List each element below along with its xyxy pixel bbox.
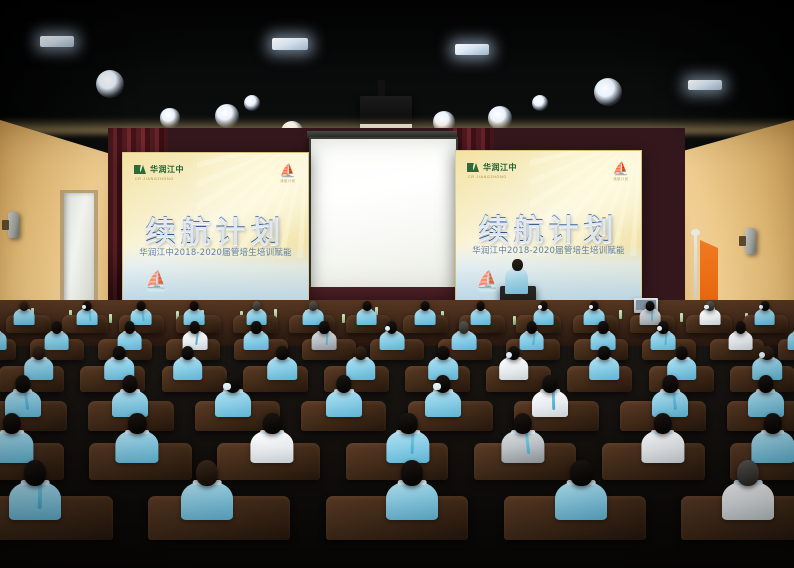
audience-head xyxy=(735,321,746,333)
audience-head xyxy=(51,321,62,333)
banner-right-logo-en: CR JIANGZHONG xyxy=(468,175,507,179)
audience-shirt xyxy=(532,390,568,417)
audience-shirt xyxy=(215,390,251,417)
audience-shirt xyxy=(112,390,148,417)
audience-shirt xyxy=(44,331,69,350)
audience-shirt xyxy=(754,309,775,325)
audience-head xyxy=(15,375,30,393)
audience-head xyxy=(570,460,592,486)
ship-icon: ⛵ xyxy=(476,271,498,289)
banner-left-logo-cn: 华润江中 xyxy=(150,166,184,174)
audience-shirt xyxy=(555,481,607,520)
audience-shirt xyxy=(641,430,684,462)
audience-head xyxy=(514,413,532,435)
audience-shirt xyxy=(24,357,54,379)
sail-icon: ⛵ xyxy=(613,162,629,175)
banner-right-logo-cn: 华润江中 xyxy=(483,164,517,172)
audience-shirt xyxy=(387,430,430,462)
lanyard xyxy=(88,310,91,321)
audience-head xyxy=(20,301,29,311)
audience-shirt xyxy=(470,309,491,325)
audience-shirt xyxy=(173,357,203,379)
audience-head xyxy=(336,375,351,393)
audience-shirt xyxy=(751,430,794,462)
audience-head xyxy=(252,301,261,311)
audience-head xyxy=(598,321,609,333)
banner-left: ⛵ 华润江中 CR JIANGZHONG ⛵ 续航计划 续航计划 华润江中201… xyxy=(122,152,309,304)
water-bottle xyxy=(109,314,112,323)
audience-shirt xyxy=(519,331,544,350)
audience-shirt xyxy=(386,481,438,520)
audience-head xyxy=(128,413,146,435)
wall-speaker-left-icon xyxy=(8,212,19,238)
panel-light-2 xyxy=(272,38,308,50)
audience-head xyxy=(476,301,485,311)
face-mask xyxy=(506,352,512,358)
audience-head xyxy=(196,460,218,486)
wall-speaker-right-icon xyxy=(745,228,756,254)
banner-right-logo: 华润江中 xyxy=(467,163,517,172)
audience-shirt xyxy=(267,357,297,379)
panel-light-1 xyxy=(40,36,74,47)
audience-head xyxy=(3,413,21,435)
audience-head xyxy=(763,413,781,435)
audience-shirt xyxy=(244,331,269,350)
audience-head xyxy=(459,321,470,333)
banner-left-title: 续航计划 xyxy=(123,207,308,251)
cr-logo-mark-icon xyxy=(467,163,480,172)
cr-logo-mark-icon xyxy=(134,165,147,174)
audience-head xyxy=(113,346,126,361)
audience-head xyxy=(646,301,655,311)
lanyard xyxy=(325,332,328,345)
face-mask xyxy=(433,383,440,391)
banner-left-logo-en: CR JIANGZHONG xyxy=(135,177,174,181)
audience-shirt xyxy=(748,390,784,417)
audience-shirt xyxy=(181,481,233,520)
audience-shirt xyxy=(77,309,98,325)
panel-light-4 xyxy=(688,80,722,90)
audience-shirt xyxy=(346,357,376,379)
audience-head xyxy=(181,346,194,361)
banner-left-logo: 华润江中 xyxy=(134,165,184,174)
audience-head xyxy=(24,460,46,486)
projection-screen xyxy=(311,139,456,289)
audience-shirt xyxy=(0,430,33,462)
banner-right-subtitle: 华润江中2018-2020届管培生培训赋能 xyxy=(456,244,641,256)
audience-shirt xyxy=(116,430,159,462)
audience-shirt xyxy=(14,309,35,325)
audience-head xyxy=(542,375,557,393)
audience-head xyxy=(308,301,317,311)
audience-head xyxy=(675,346,688,361)
banner-left-sail-caption: 续航计划 xyxy=(280,178,296,183)
audience-head xyxy=(526,321,537,333)
audience-head xyxy=(319,321,330,333)
banner-right: ⛵ 华润江中 CR JIANGZHONG ⛵ 续航计划 续航计划 华润江中201… xyxy=(455,150,642,302)
banner-left-subtitle: 华润江中2018-2020届管培生培训赋能 xyxy=(123,246,308,258)
audience-head xyxy=(137,301,146,311)
audience-shirt xyxy=(379,331,404,350)
face-mask xyxy=(223,383,230,391)
flag-finial xyxy=(691,229,700,236)
audience-head xyxy=(653,413,671,435)
audience-head xyxy=(758,375,773,393)
audience-head xyxy=(251,321,262,333)
presenter-head xyxy=(512,259,523,271)
audience-shirt xyxy=(414,309,435,325)
water-bottle xyxy=(619,310,622,319)
audience-head xyxy=(124,321,135,333)
water-bottle xyxy=(342,314,345,323)
audience-shirt xyxy=(533,309,554,325)
audience-head xyxy=(189,301,198,311)
audience-shirt xyxy=(722,481,774,520)
audience-shirt xyxy=(699,309,720,325)
audience-shirt xyxy=(501,430,544,462)
audience-head xyxy=(33,346,46,361)
lanyard xyxy=(552,391,555,410)
audience-head xyxy=(437,346,450,361)
sail-icon: ⛵ xyxy=(280,164,296,177)
audience-shirt xyxy=(499,357,529,379)
audience-head xyxy=(263,413,281,435)
audience-shirt xyxy=(651,331,676,350)
audience-head xyxy=(189,321,200,333)
panel-light-3 xyxy=(455,44,489,55)
audience-head xyxy=(354,346,367,361)
audience-shirt xyxy=(425,390,461,417)
audience-shirt xyxy=(312,331,337,350)
banner-left-sail-emblem: ⛵ 续航计划 xyxy=(280,164,296,183)
audience-head xyxy=(362,301,371,311)
audience-shirt xyxy=(788,331,794,350)
audience-shirt xyxy=(728,331,753,350)
audience-shirt xyxy=(251,430,294,462)
water-bottle xyxy=(680,313,683,322)
audience-shirt xyxy=(589,357,619,379)
presenter-body xyxy=(505,268,528,294)
banner-right-sail-emblem: ⛵ 续航计划 xyxy=(613,162,629,181)
audience-head xyxy=(276,346,289,361)
auditorium-photo: ⛵ 华润江中 CR JIANGZHONG ⛵ 续航计划 续航计划 华润江中201… xyxy=(0,0,794,568)
audience-head xyxy=(401,460,423,486)
face-mask xyxy=(704,305,708,309)
banner-right-sail-caption: 续航计划 xyxy=(613,176,629,181)
audience-shirt xyxy=(356,309,377,325)
audience-shirt xyxy=(326,390,362,417)
ship-icon: ⛵ xyxy=(145,271,167,289)
audience-head xyxy=(737,460,759,486)
audience-head xyxy=(399,413,417,435)
audience-head xyxy=(663,375,678,393)
audience-shirt xyxy=(451,331,476,350)
audience-shirt xyxy=(9,481,61,520)
audience-head xyxy=(420,301,429,311)
audience-head xyxy=(122,375,137,393)
audience-head xyxy=(598,346,611,361)
banner-right-title: 续航计划 xyxy=(456,205,641,249)
projection-screen-frame xyxy=(309,137,458,291)
